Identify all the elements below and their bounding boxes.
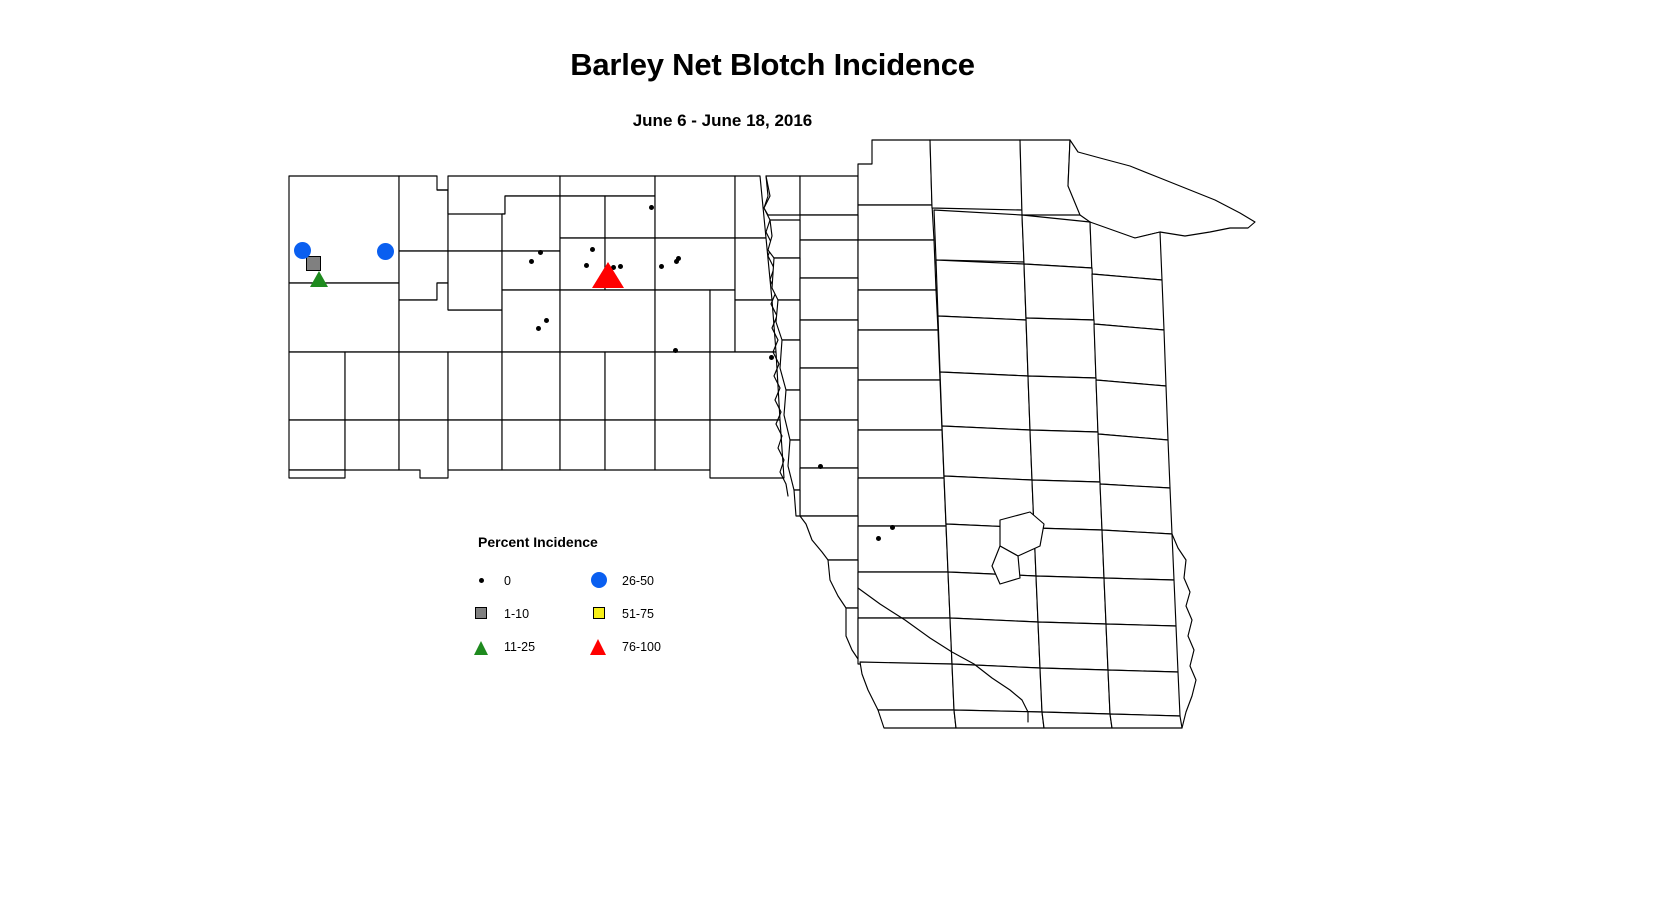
legend-square-icon bbox=[593, 607, 605, 619]
map-marker-0 bbox=[890, 525, 895, 530]
map-page: Barley Net Blotch Incidence June 6 - Jun… bbox=[0, 0, 1673, 900]
map-marker-0 bbox=[818, 464, 823, 469]
map-marker-0 bbox=[529, 259, 534, 264]
legend-item-label: 1-10 bbox=[504, 607, 529, 621]
map-marker-0 bbox=[876, 536, 881, 541]
legend-square-icon bbox=[475, 607, 487, 619]
legend-circle-icon bbox=[591, 572, 607, 588]
map-marker-0 bbox=[590, 247, 595, 252]
legend-triangle-icon bbox=[590, 639, 606, 655]
map-marker-0 bbox=[544, 318, 549, 323]
map-marker-0 bbox=[649, 205, 654, 210]
map-marker-0 bbox=[676, 256, 681, 261]
map-marker-26-50 bbox=[377, 243, 394, 260]
map-marker-76-100 bbox=[592, 262, 624, 288]
legend-swatch bbox=[588, 603, 614, 625]
map-marker-0 bbox=[659, 264, 664, 269]
legend-swatch bbox=[588, 570, 614, 592]
legend-swatch bbox=[588, 636, 614, 658]
county-map-svg bbox=[0, 0, 1673, 900]
legend-triangle-icon bbox=[474, 641, 488, 655]
map-canvas bbox=[0, 0, 1673, 900]
map-marker-0 bbox=[538, 250, 543, 255]
legend-swatch bbox=[470, 570, 496, 592]
legend-item-label: 0 bbox=[504, 574, 511, 588]
legend-swatch bbox=[470, 636, 496, 658]
map-marker-1-10 bbox=[306, 256, 321, 271]
legend-item-label: 76-100 bbox=[622, 640, 661, 654]
map-marker-0 bbox=[536, 326, 541, 331]
legend-dot-icon bbox=[479, 578, 484, 583]
legend-item-label: 11-25 bbox=[504, 640, 535, 654]
map-marker-0 bbox=[673, 348, 678, 353]
legend: Percent Incidence 01-1011-25 26-5051-757… bbox=[470, 534, 700, 662]
legend-item-label: 26-50 bbox=[622, 574, 654, 588]
map-marker-0 bbox=[769, 355, 774, 360]
legend-item-label: 51-75 bbox=[622, 607, 654, 621]
legend-title: Percent Incidence bbox=[478, 534, 598, 550]
minnesota-counties bbox=[764, 140, 1255, 728]
map-marker-0 bbox=[584, 263, 589, 268]
map-marker-26-50 bbox=[294, 242, 311, 259]
legend-swatch bbox=[470, 603, 496, 625]
map-marker-11-25 bbox=[310, 271, 328, 287]
